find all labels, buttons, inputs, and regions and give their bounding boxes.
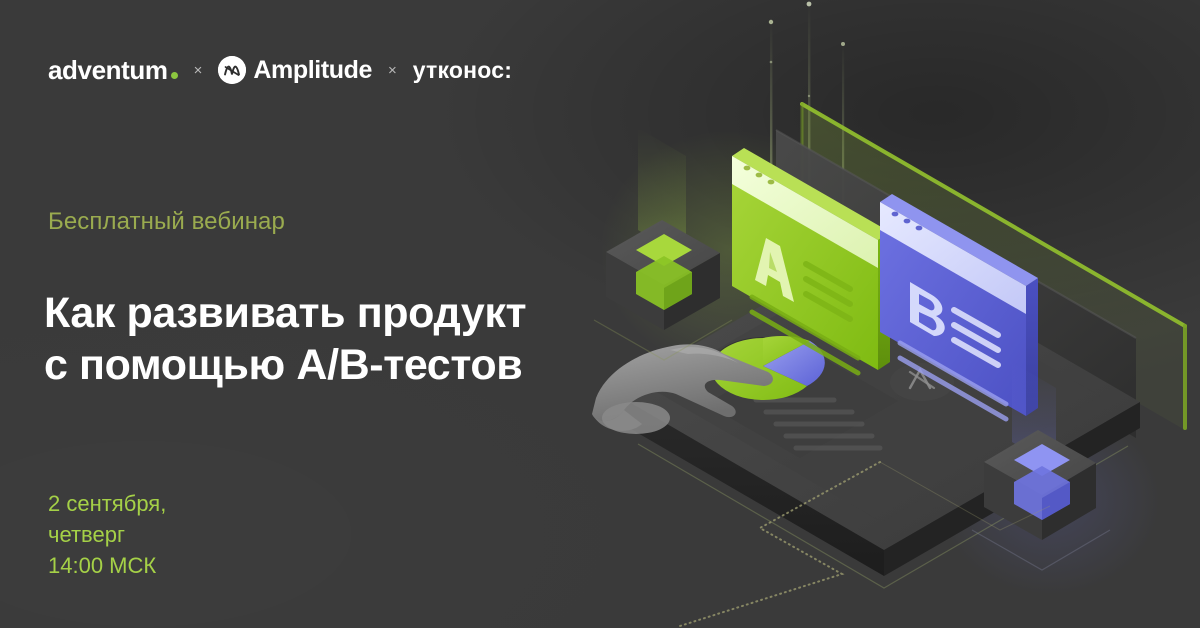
dot-icon bbox=[171, 72, 178, 79]
logo-amplitude[interactable]: Amplitude bbox=[218, 56, 372, 85]
logo-amplitude-text: Amplitude bbox=[253, 56, 372, 85]
partner-logo-bar: adventum × Amplitude × утконос: bbox=[48, 50, 512, 90]
event-datetime: 2 сентября, четверг 14:00 МСК bbox=[48, 488, 166, 582]
logo-adventum[interactable]: adventum bbox=[48, 55, 178, 86]
amplitude-logo-icon bbox=[218, 56, 246, 84]
logo-adventum-text: adventum bbox=[48, 55, 168, 86]
isometric-illustration bbox=[580, 0, 1200, 628]
kicker-label: Бесплатный вебинар bbox=[48, 208, 285, 236]
logo-utkonos[interactable]: утконос: bbox=[413, 57, 512, 84]
logo-separator-2: × bbox=[388, 62, 397, 79]
webinar-banner: adventum × Amplitude × утконос: Бесплатн… bbox=[0, 0, 1200, 628]
logo-separator-1: × bbox=[194, 62, 203, 79]
page-title: Как развивать продукт с помощью A/B-тест… bbox=[44, 287, 526, 392]
